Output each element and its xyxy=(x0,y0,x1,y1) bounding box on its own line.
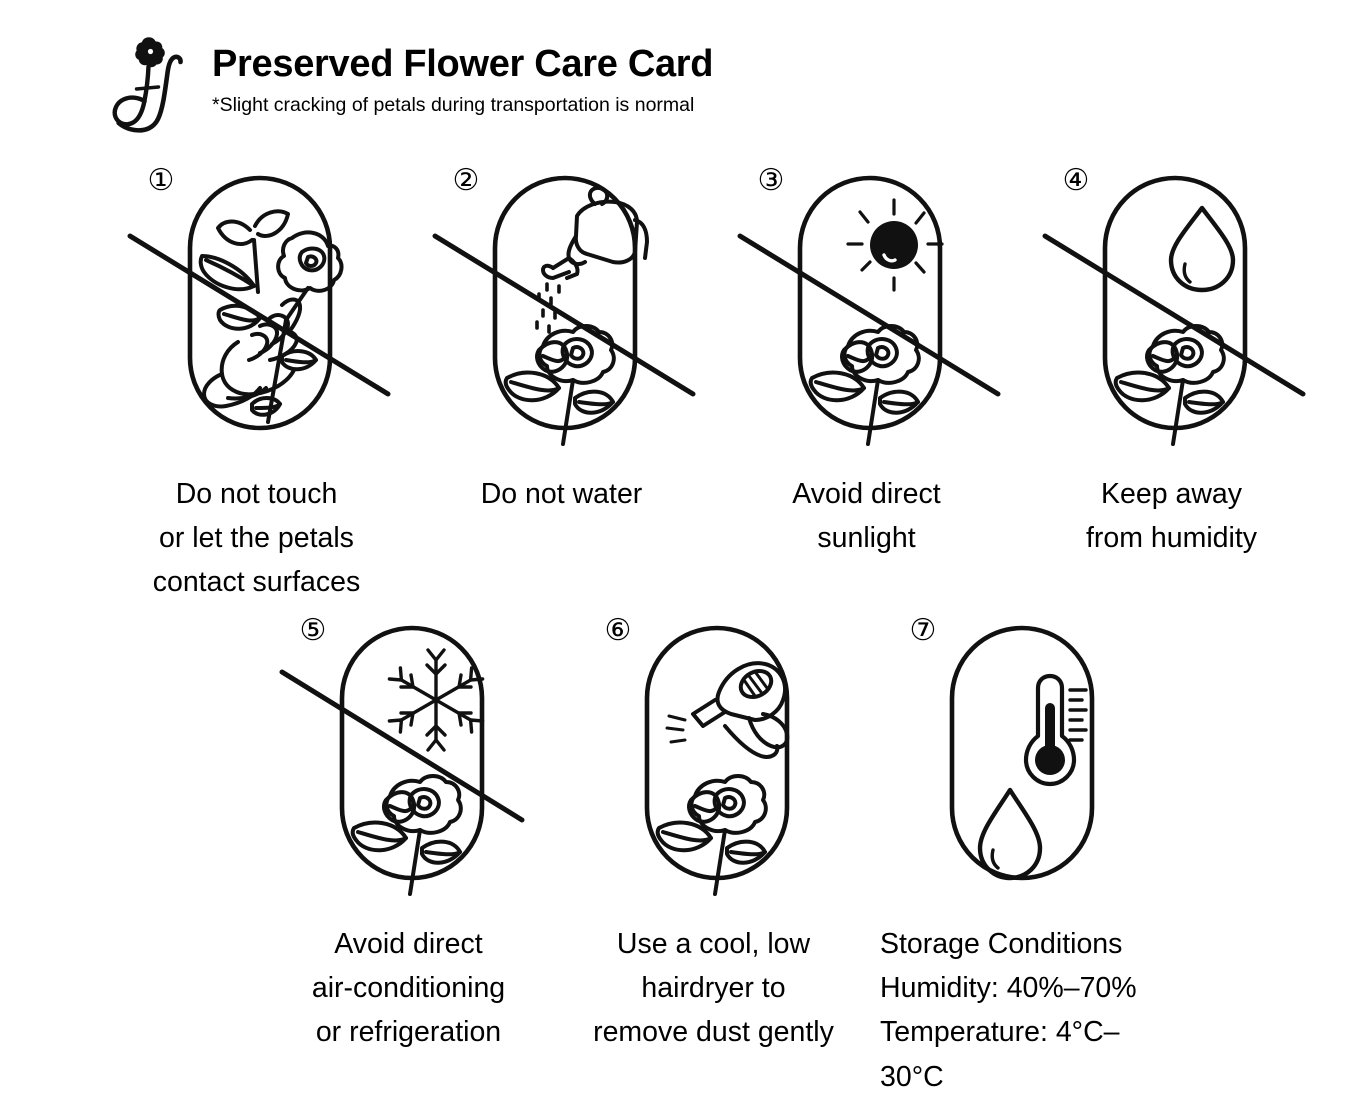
hand-touching-rose-icon xyxy=(142,160,372,450)
icon-water-droplet-rose: ④ xyxy=(1057,160,1287,450)
card-header: Preserved Flower Care Card *Slight crack… xyxy=(108,33,713,133)
thermometer-droplet-icon xyxy=(904,610,1134,900)
care-caption-2: Do not water xyxy=(481,472,643,516)
care-caption-5: Avoid direct air-conditioning or refrige… xyxy=(312,922,505,1055)
jf-monogram-logo xyxy=(108,33,194,133)
page-title: Preserved Flower Care Card xyxy=(212,45,713,85)
care-row-2: ⑤ xyxy=(256,610,1171,1099)
care-item-4: ④ xyxy=(1019,160,1324,605)
care-item-2: ② xyxy=(409,160,714,605)
care-caption-1: Do not touch or let the petals contact s… xyxy=(153,472,361,605)
icon-thermometer-droplet: ⑦ xyxy=(904,610,1134,900)
care-item-5: ⑤ xyxy=(256,610,561,1099)
care-item-3: ③ xyxy=(714,160,1019,605)
icon-snowflake-rose: ⑤ xyxy=(294,610,524,900)
hairdryer-rose-icon xyxy=(599,610,829,900)
care-row-1: ① xyxy=(104,160,1324,605)
icon-hand-touching-rose: ① xyxy=(142,160,372,450)
storage-conditions-caption: Storage Conditions Humidity: 40%–70% Tem… xyxy=(880,922,1171,1099)
care-caption-6: Use a cool, low hairdryer to remove dust… xyxy=(593,922,834,1055)
icon-sun-rose: ③ xyxy=(752,160,982,450)
watering-can-rose-icon xyxy=(447,160,677,450)
care-caption-4: Keep away from humidity xyxy=(1086,472,1257,560)
care-item-1: ① xyxy=(104,160,409,605)
care-item-6: ⑥ xyxy=(561,610,866,1099)
care-item-7: ⑦ xyxy=(866,610,1171,1099)
icon-watering-can-rose: ② xyxy=(447,160,677,450)
snowflake-rose-icon xyxy=(294,610,524,900)
header-text-block: Preserved Flower Care Card *Slight crack… xyxy=(212,33,713,117)
water-droplet-rose-icon xyxy=(1057,160,1287,450)
care-caption-3: Avoid direct sunlight xyxy=(792,472,940,560)
icon-hairdryer-rose: ⑥ xyxy=(599,610,829,900)
page-subtitle: *Slight cracking of petals during transp… xyxy=(212,94,713,117)
sun-rose-icon xyxy=(752,160,982,450)
